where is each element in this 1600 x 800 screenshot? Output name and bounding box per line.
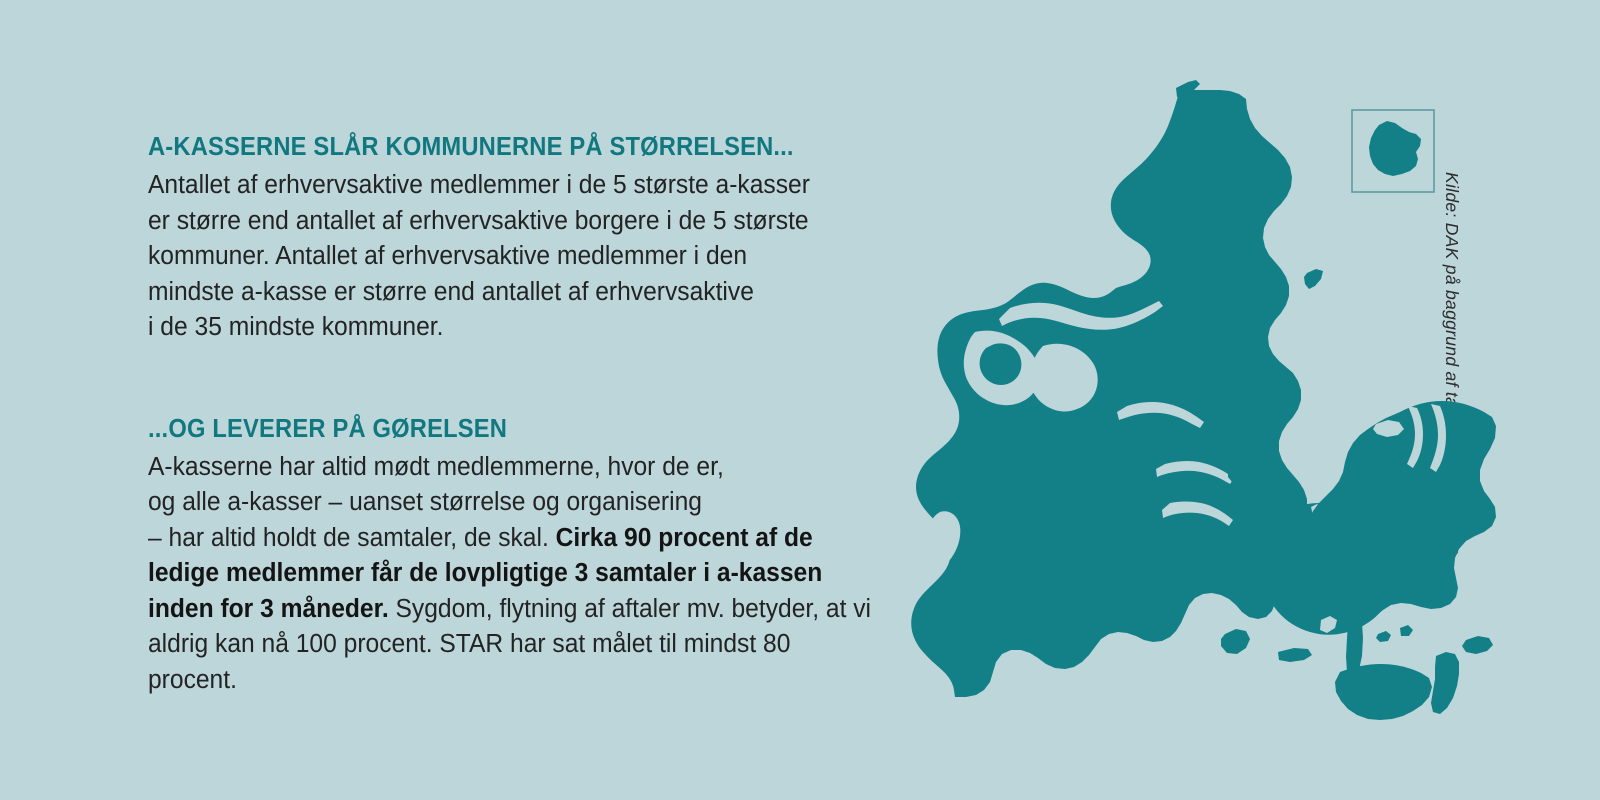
text-column: A-KASSERNE SLÅR KOMMUNERNE PÅ STØRRELSEN… [148,132,908,698]
map-container [880,60,1500,740]
denmark-map-svg [880,60,1500,740]
falster-island [1431,652,1459,714]
aero-island [1278,648,1312,662]
heading-delivery: ...OG LEVERER PÅ GØRELSEN [148,414,855,444]
paragraph-size: Antallet af erhvervsaktive medlemmer i d… [148,168,881,346]
small-island-a [1376,631,1391,642]
mon-island [1462,636,1493,654]
lolland-island [1335,664,1432,720]
small-island-b [1400,625,1413,636]
heading-size: A-KASSERNE SLÅR KOMMUNERNE PÅ STØRRELSEN… [148,132,855,162]
paragraph-delivery: A-kasserne har altid mødt medlemmerne, h… [148,450,881,699]
zealand-island [1309,401,1496,621]
paragraph-size-line-5: i de 35 mindste kommuner. [148,313,443,341]
paragraph-delivery-line-2: og alle a-kasser – uanset størrelse og o… [148,488,702,516]
bornholm-island [1369,121,1421,176]
als-island [1221,629,1250,654]
text-block-delivery: ...OG LEVERER PÅ GØRELSEN A-kasserne har… [148,414,908,699]
paragraph-size-line-1: Antallet af erhvervsaktive medlemmer i d… [148,171,810,199]
paragraph-delivery-line-3-lead: – har altid holdt de samtaler, de skal. [148,524,556,552]
paragraph-size-line-2: er større end antallet af erhvervsaktive… [148,207,809,235]
paragraph-delivery-line-1: A-kasserne har altid mødt medlemmerne, h… [148,453,724,481]
paragraph-size-line-4: mindste a-kasse er større end antallet a… [148,278,754,306]
paragraph-size-line-3: kommuner. Antallet af erhvervsaktive med… [148,242,747,270]
infographic-canvas: A-KASSERNE SLÅR KOMMUNERNE PÅ STØRRELSEN… [0,0,1600,800]
anholt-island [1304,269,1323,289]
text-block-size: A-KASSERNE SLÅR KOMMUNERNE PÅ STØRRELSEN… [148,132,908,346]
